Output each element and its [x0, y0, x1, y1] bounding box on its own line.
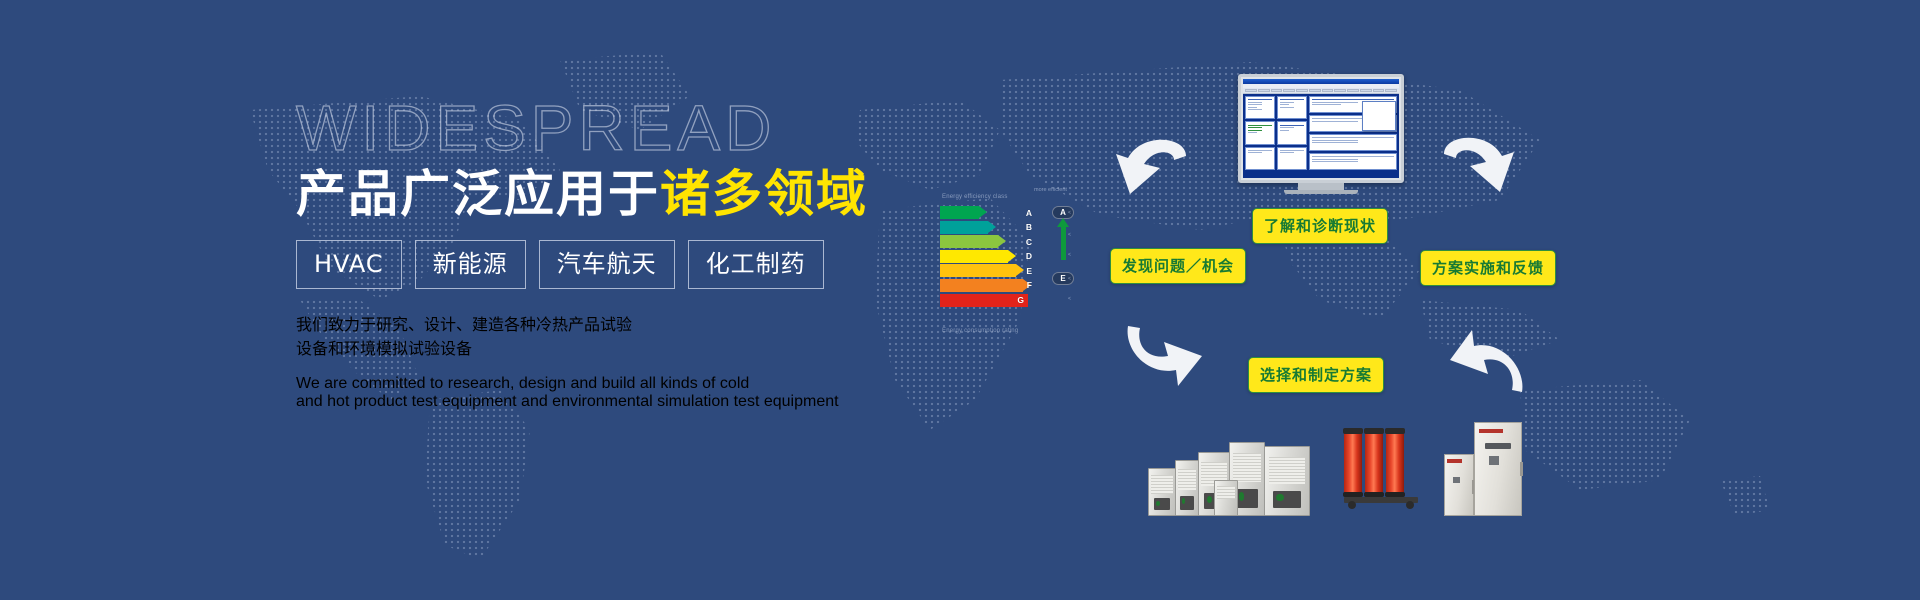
description-en-line-1: We are committed to research, design and… [296, 375, 1056, 393]
energy-bar-grade: E [1026, 266, 1036, 276]
energy-bar-b: B [940, 221, 1028, 234]
energy-bar-d: D [940, 250, 1028, 263]
energy-scale-note: more efficient [1034, 187, 1067, 193]
banner-stage: WIDESPREAD 产品广泛应用于诸多领域 HVAC 新能源 汽车航天 化工制… [0, 0, 1920, 600]
monitor-base [1284, 190, 1358, 194]
energy-bar-grade: A [1026, 208, 1036, 218]
tag-hvac[interactable]: HVAC [296, 240, 402, 289]
software-monitor [1238, 74, 1404, 194]
energy-bar-g: G [940, 294, 1028, 307]
energy-efficiency-label: Energy efficiency class A B C D [940, 206, 1075, 321]
headline-white: 产品广泛应用于 [296, 165, 660, 223]
equipment-cabinet-units [1444, 424, 1528, 516]
equipment-coil-cart [1344, 432, 1418, 514]
monitor-stand [1298, 183, 1344, 190]
energy-bar-grade: B [1026, 222, 1036, 232]
energy-up-arrow-icon [1061, 226, 1066, 260]
tag-chemical-pharma[interactable]: 化工制药 [688, 240, 824, 289]
equipment-drive-units [1148, 438, 1308, 516]
energy-label-caption-top: Energy efficiency class [942, 194, 1008, 200]
energy-bar-grade: D [1026, 251, 1036, 261]
energy-scale-indicator: more efficient A E < < < < < [1034, 200, 1078, 320]
energy-bar-list: A B C D E [940, 206, 1028, 308]
monitor-bezel [1238, 74, 1404, 183]
energy-bar-e: E [940, 264, 1028, 277]
callout-diagnose[interactable]: 了解和诊断现状 [1252, 208, 1388, 244]
energy-bar-grade: C [1026, 237, 1036, 247]
equipment-photo-group [1148, 402, 1528, 518]
callout-plan[interactable]: 选择和制定方案 [1248, 357, 1384, 393]
energy-bar-c: C [940, 235, 1028, 248]
tag-automotive-aerospace[interactable]: 汽车航天 [539, 240, 675, 289]
monitor-screen [1243, 79, 1399, 178]
energy-bar-a: A [940, 206, 1028, 219]
page-title-outline: WIDESPREAD [296, 96, 1056, 160]
callout-discover[interactable]: 发现问题／机会 [1110, 248, 1246, 284]
arrow-bottom-right-icon [1450, 318, 1534, 398]
callout-implement[interactable]: 方案实施和反馈 [1420, 250, 1556, 286]
tag-new-energy[interactable]: 新能源 [415, 240, 526, 289]
description-en-line-2: and hot product test equipment and envir… [296, 393, 1056, 411]
energy-bar-f: F [940, 279, 1028, 292]
headline-yellow: 诸多领域 [660, 165, 868, 223]
arrow-top-right-icon [1438, 130, 1522, 210]
energy-label-caption-bottom: Energy consumption rating [942, 328, 1018, 334]
energy-bar-grade: F [1027, 280, 1036, 290]
arrow-bottom-left-icon [1118, 320, 1202, 400]
arrow-top-left-icon [1108, 132, 1192, 212]
description-cn-line-2: 设备和环境模拟试验设备 [296, 335, 1056, 359]
software-dialog [1362, 101, 1396, 131]
energy-bar-grade: G [1017, 295, 1028, 305]
